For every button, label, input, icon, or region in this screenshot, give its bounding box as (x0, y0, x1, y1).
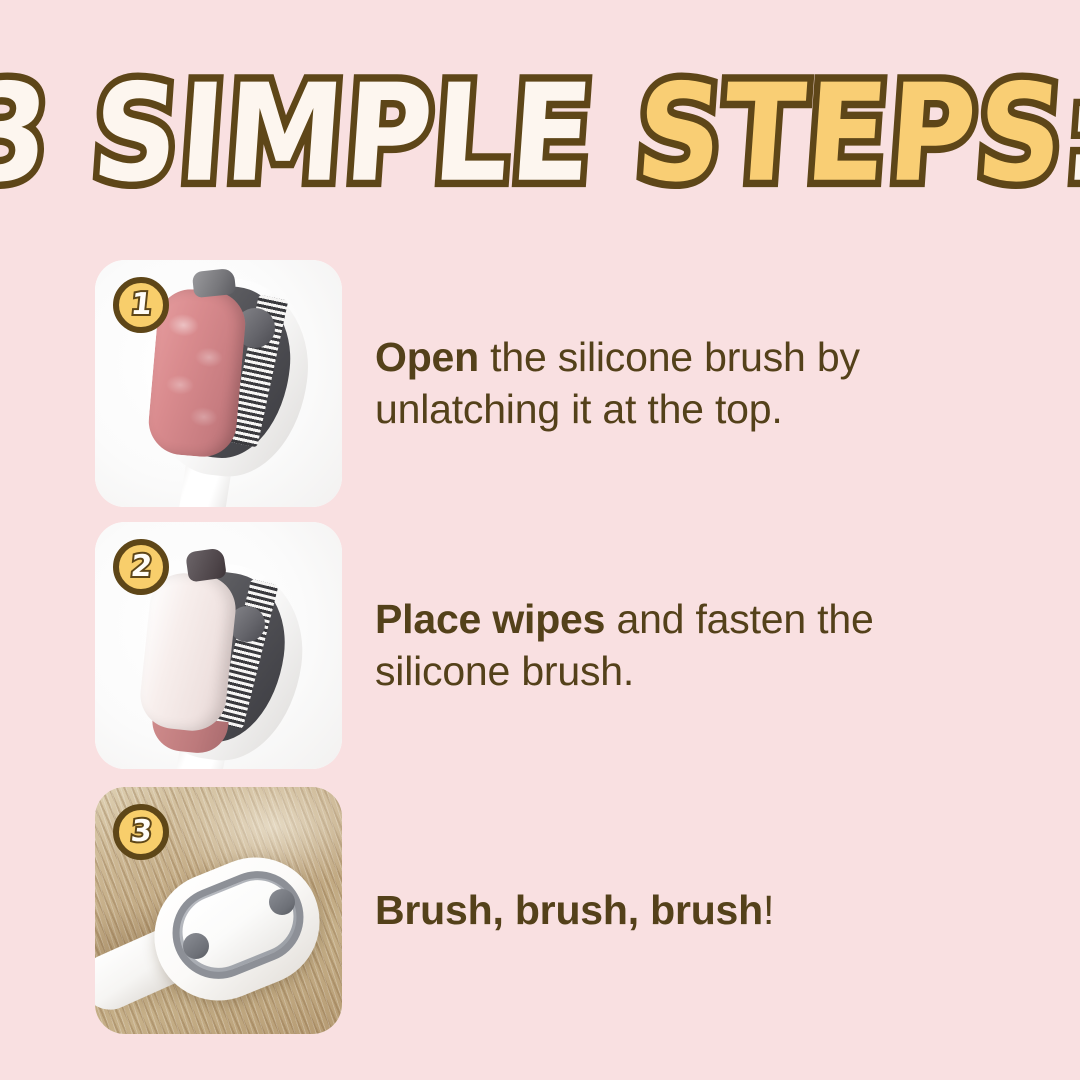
step-description-1: Open the silicone brush by unlatching it… (375, 332, 985, 435)
step-row-1: 1 Open the silicone brush by unlatching … (95, 260, 985, 507)
page-title: 3 SIMPLE STEPS: (0, 58, 1080, 208)
step-badge-1: 1 (113, 277, 169, 333)
roller-peg-top (269, 889, 295, 915)
latch-tab (185, 548, 227, 583)
step-badge-2: 2 (113, 539, 169, 595)
title-text: 3 SIMPLE STEPS: (0, 66, 1080, 201)
step-badge-number-1: 1 (129, 290, 153, 320)
latch-tab (192, 268, 236, 298)
step-image-card-2: 2 (95, 522, 342, 769)
step-row-2: 2 Place wipes and fasten the silicone br… (95, 522, 985, 769)
step-row-3: 3 Brush, brush, brush! (95, 787, 985, 1034)
step-badge-number-3: 3 (129, 817, 153, 847)
wipe-wrapped-roller (137, 570, 239, 734)
step-image-card-1: 1 (95, 260, 342, 507)
step-badge-number-2: 2 (129, 552, 153, 582)
step-badge-3: 3 (113, 804, 169, 860)
step-bold-2: Place wipes (375, 596, 605, 642)
title-part-white: 3 SIMPLE (0, 54, 599, 211)
step-description-2: Place wipes and fasten the silicone brus… (375, 594, 985, 697)
step-bold-1: Open (375, 334, 479, 380)
step-image-card-3: 3 (95, 787, 342, 1034)
title-part-yellow: STEPS (632, 54, 1071, 211)
step-bold-3: Brush, brush, brush (375, 887, 763, 933)
step-rest-3: ! (763, 887, 774, 933)
step-description-3: Brush, brush, brush! (375, 885, 985, 937)
roller-peg-bottom (183, 933, 209, 959)
